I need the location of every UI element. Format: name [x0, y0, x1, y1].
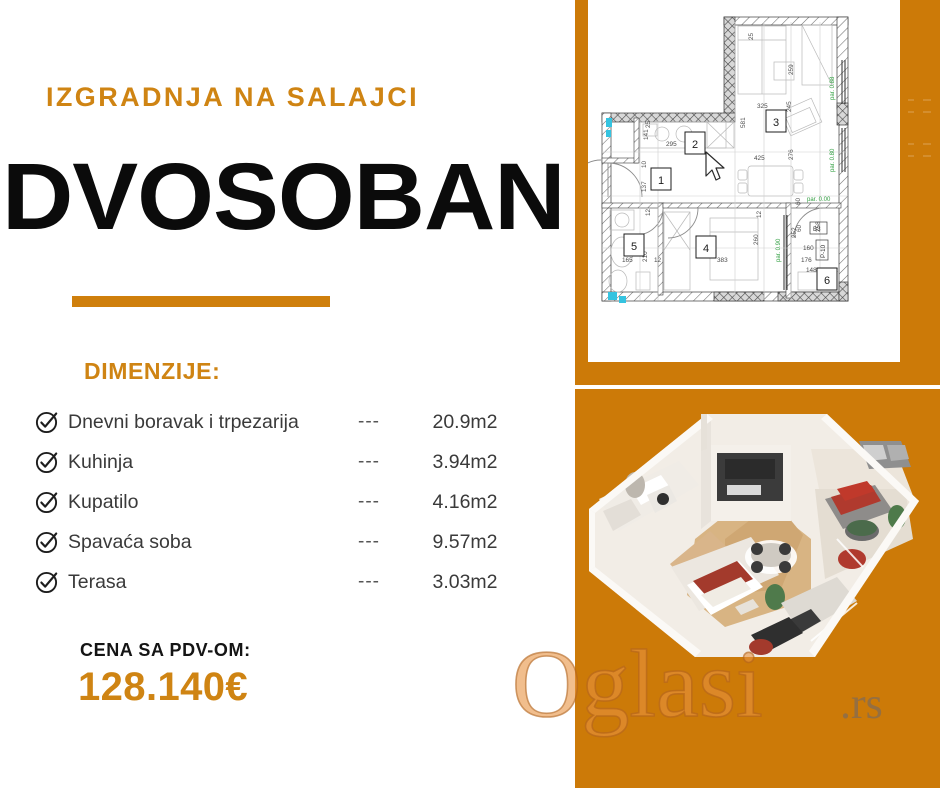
room-label: Terasa — [68, 571, 127, 594]
check-circle-icon — [34, 409, 60, 435]
row-separator: --- — [358, 451, 380, 473]
dimension-label: 383 — [717, 257, 728, 264]
dimension-label: 259 — [788, 64, 795, 75]
room-label: Spavaća soba — [68, 531, 192, 554]
room-area-value: 9.57m2 — [410, 531, 520, 554]
price-value: 128.140€ — [78, 665, 248, 710]
room-label: Kuhinja — [68, 451, 133, 474]
margin-notes — [905, 92, 935, 172]
dimension-label: 137 — [641, 181, 648, 192]
floorplan-drawing: 25 259 325 581 141 25 295 425 276 245 10… — [588, 0, 900, 362]
dimension-label: 245 — [786, 101, 793, 112]
room-number: 1 — [658, 175, 664, 187]
row-separator: --- — [358, 571, 380, 593]
floorplan-panel: 25 259 325 581 141 25 295 425 276 245 10… — [575, 0, 940, 385]
dimension-label: 276 — [788, 149, 795, 160]
room-number: 2 — [692, 139, 698, 151]
dimension-label: 12 — [654, 257, 662, 264]
dimensions-heading: DIMENZIJE: — [84, 358, 220, 385]
list-item: Kupatilo --- 4.16m2 — [34, 482, 534, 522]
price-label: CENA SA PDV-OM: — [80, 640, 251, 661]
list-item: Spavaća soba --- 9.57m2 — [34, 522, 534, 562]
list-item: Kuhinja --- 3.94m2 — [34, 442, 534, 482]
list-item: Dnevni boravak i trpezarija --- 20.9m2 — [34, 402, 534, 442]
row-separator: --- — [358, 491, 380, 513]
accent-divider — [72, 296, 330, 307]
dimension-label: 60 — [796, 224, 803, 232]
dimension-label: 12 — [756, 210, 763, 218]
room-number: 4 — [703, 243, 709, 255]
parapet-note: par. 0.00 — [807, 197, 831, 203]
dimension-label: 160 — [803, 245, 814, 252]
dimension-label: 581 — [740, 117, 747, 128]
room-number: 3 — [773, 117, 779, 129]
element-tag: P-10 — [820, 244, 827, 258]
row-separator: --- — [358, 531, 380, 553]
render-panel — [575, 389, 940, 788]
dimension-label: 148 — [806, 267, 817, 274]
kicker-text: IZGRADNJA NA SALAJCI — [46, 82, 419, 113]
dimension-label: 25 — [645, 120, 652, 128]
parapet-note: par. 0.88 — [830, 76, 836, 100]
parapet-note: par. 0.80 — [830, 148, 836, 172]
check-circle-icon — [34, 489, 60, 515]
row-separator: --- — [358, 411, 380, 433]
dimension-label: 425 — [754, 155, 765, 162]
list-item: Terasa --- 3.03m2 — [34, 562, 534, 602]
right-media-column: 25 259 325 581 141 25 295 425 276 245 10… — [575, 0, 940, 788]
check-circle-icon — [34, 529, 60, 555]
dimension-label: 176 — [801, 257, 812, 264]
left-info-panel: IZGRADNJA NA SALAJCI DVOSOBAN DIMENZIJE:… — [0, 0, 575, 788]
dimensions-list: Dnevni boravak i trpezarija --- 20.9m2 K… — [34, 402, 534, 602]
room-area-value: 4.16m2 — [410, 491, 520, 514]
dimension-label: 12 — [645, 208, 652, 216]
dimension-label: 60 — [795, 197, 802, 205]
room-area-value: 3.94m2 — [410, 451, 520, 474]
dimension-label: 260 — [753, 234, 760, 245]
room-label: Kupatilo — [68, 491, 138, 514]
room-number: 5 — [631, 241, 637, 253]
dimension-label: 25 — [748, 32, 755, 40]
check-circle-icon — [34, 569, 60, 595]
apartment-3d-render — [575, 389, 940, 788]
dimension-label: 165 — [622, 257, 633, 264]
dimension-label: 325 — [757, 103, 768, 110]
element-tag: B3 — [813, 226, 821, 233]
page-title: DVOSOBAN — [2, 150, 565, 245]
check-circle-icon — [34, 449, 60, 475]
room-area-value: 20.9m2 — [410, 411, 520, 434]
room-label: Dnevni boravak i trpezarija — [68, 411, 299, 434]
dimension-label: 141 — [643, 129, 650, 140]
room-number: 6 — [824, 275, 830, 287]
advertisement-canvas: IZGRADNJA NA SALAJCI DVOSOBAN DIMENZIJE:… — [0, 0, 940, 788]
room-area-value: 3.03m2 — [410, 571, 520, 594]
dimension-label: 10 — [641, 160, 648, 168]
dimension-label: 295 — [666, 141, 677, 148]
parapet-note: par. 0.90 — [776, 238, 782, 262]
